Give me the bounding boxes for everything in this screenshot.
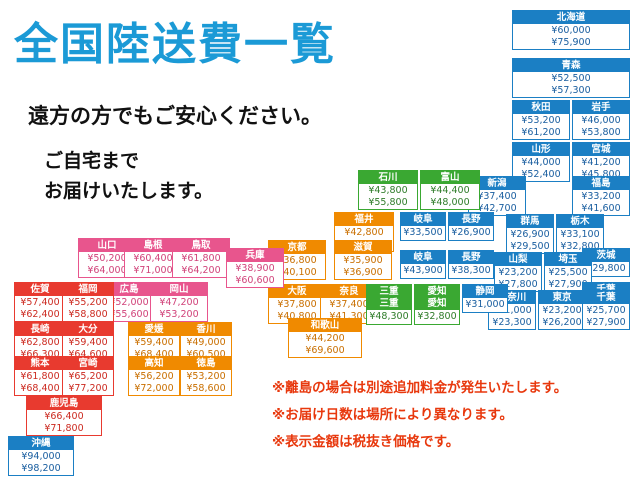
prefecture-card: 青森¥52,500¥57,300 (512, 58, 630, 98)
price-value: ¥55,800 (359, 197, 417, 209)
prefecture-name: 岐阜 (401, 251, 445, 264)
note-3: ※表示金額は税抜き価格です。 (272, 430, 459, 450)
price-value: ¥43,900 (401, 265, 445, 277)
prefecture-name: 青森 (513, 59, 629, 72)
prefecture-name: 三重 (367, 297, 411, 310)
prefecture-name: 鹿児島 (27, 397, 101, 410)
prefecture-name: 福岡 (63, 283, 113, 296)
price-value: ¥33,100 (557, 229, 603, 241)
price-value: ¥75,900 (513, 37, 629, 49)
price-value: ¥57,400 (15, 297, 65, 309)
price-value: ¥37,800 (269, 299, 325, 311)
prefecture-card: 東京¥23,200¥26,200 (538, 290, 586, 330)
price-value: ¥23,200 (539, 305, 585, 317)
prefecture-card: 愛知¥32,800 (414, 296, 460, 325)
prefecture-prices: ¥33,500 (401, 226, 445, 240)
price-value: ¥53,200 (181, 371, 231, 383)
price-value: ¥94,000 (9, 451, 73, 463)
prefecture-name: 長野 (449, 251, 493, 264)
prefecture-prices: ¥43,800¥55,800 (359, 184, 417, 209)
prefecture-name: 長崎 (15, 323, 65, 336)
prefecture-name: 大分 (63, 323, 113, 336)
prefecture-name: 長野 (449, 213, 493, 226)
prefecture-card: 北海道¥60,000¥75,900 (512, 10, 630, 50)
price-value: ¥61,800 (15, 371, 65, 383)
price-value: ¥53,200 (151, 309, 207, 321)
price-value: ¥31,000 (463, 299, 507, 311)
price-value: ¥26,900 (507, 229, 553, 241)
price-value: ¥27,900 (583, 317, 629, 329)
note-1: ※離島の場合は別途追加料金が発生いたします。 (272, 376, 567, 396)
price-value: ¥47,200 (151, 297, 207, 309)
price-value: ¥61,800 (173, 253, 229, 265)
prefecture-prices: ¥43,900 (401, 264, 445, 278)
price-value: ¥60,000 (513, 25, 629, 37)
prefecture-card: 福岡¥55,200¥58,800 (62, 282, 114, 322)
price-value: ¥55,200 (63, 297, 113, 309)
prefecture-prices: ¥35,900¥36,900 (335, 254, 391, 279)
prefecture-name: 山梨 (495, 253, 541, 266)
prefecture-name: 山形 (513, 143, 569, 156)
price-value: ¥38,300 (449, 265, 493, 277)
price-value: ¥25,700 (583, 305, 629, 317)
prefecture-prices: ¥26,900 (449, 226, 493, 240)
prefecture-prices: ¥33,200¥41,600 (573, 190, 629, 215)
price-value: ¥53,200 (513, 115, 569, 127)
prefecture-prices: ¥38,900¥60,600 (227, 262, 283, 287)
price-value: ¥32,800 (415, 311, 459, 323)
prefecture-card: 佐賀¥57,400¥62,400 (14, 282, 66, 322)
prefecture-card: 滋賀¥35,900¥36,900 (334, 240, 392, 280)
prefecture-card: 長野¥26,900 (448, 212, 494, 241)
price-value: ¥48,300 (367, 311, 411, 323)
price-chart-poster: 全国陸送費一覧 遠方の方でもご安心ください。 ご自宅まで お届けいたします。 ※… (0, 0, 640, 480)
prefecture-card: 鹿児島¥66,400¥71,800 (26, 396, 102, 436)
prefecture-name: 宮崎 (63, 357, 113, 370)
prefecture-prices: ¥65,200¥77,200 (63, 370, 113, 395)
price-value: ¥33,200 (573, 191, 629, 203)
prefecture-name: 栃木 (557, 215, 603, 228)
price-value: ¥35,900 (335, 255, 391, 267)
prefecture-prices: ¥44,400¥48,000 (421, 184, 479, 209)
price-value: ¥44,200 (289, 333, 361, 345)
prefecture-prices: ¥44,200¥69,600 (289, 332, 361, 357)
prefecture-prices: ¥48,300 (367, 310, 411, 324)
price-value: ¥60,600 (227, 275, 283, 287)
prefecture-prices: ¥94,000¥98,200 (9, 450, 73, 475)
prefecture-card: 秋田¥53,200¥61,200 (512, 100, 570, 140)
price-value: ¥56,200 (129, 371, 179, 383)
prefecture-card: 石川¥43,800¥55,800 (358, 170, 418, 210)
prefecture-name: 北海道 (513, 11, 629, 24)
price-value: ¥58,600 (181, 383, 231, 395)
price-value: ¥29,500 (507, 241, 553, 253)
prefecture-prices: ¥46,000¥53,800 (573, 114, 629, 139)
prefecture-name: 福島 (573, 177, 629, 190)
prefecture-prices: ¥56,200¥72,000 (129, 370, 179, 395)
price-value: ¥64,200 (173, 265, 229, 277)
price-value: ¥36,900 (335, 267, 391, 279)
prefecture-name: 佐賀 (15, 283, 65, 296)
prefecture-prices: ¥55,200¥58,800 (63, 296, 113, 321)
price-value: ¥98,200 (9, 463, 73, 475)
price-value: ¥62,800 (15, 337, 65, 349)
prefecture-name: 鳥取 (173, 239, 229, 252)
prefecture-prices: ¥52,500¥57,300 (513, 72, 629, 97)
price-value: ¥46,000 (573, 115, 629, 127)
price-value: ¥33,500 (401, 227, 445, 239)
price-value: ¥44,000 (513, 157, 569, 169)
price-value: ¥41,200 (573, 157, 629, 169)
prefecture-name: 香川 (181, 323, 231, 336)
price-value: ¥42,800 (335, 227, 393, 239)
prefecture-card: 高知¥56,200¥72,000 (128, 356, 180, 396)
prefecture-prices: ¥32,800 (415, 310, 459, 324)
price-value: ¥58,800 (63, 309, 113, 321)
price-value: ¥59,400 (63, 337, 113, 349)
prefecture-card: 熊本¥61,800¥68,400 (14, 356, 66, 396)
prefecture-name: 秋田 (513, 101, 569, 114)
prefecture-name: 和歌山 (289, 319, 361, 332)
prefecture-card: 岐阜¥33,500 (400, 212, 446, 241)
prefecture-prices: ¥60,000¥75,900 (513, 24, 629, 49)
price-value: ¥69,600 (289, 345, 361, 357)
prefecture-name: 宮城 (573, 143, 629, 156)
price-value: ¥26,900 (449, 227, 493, 239)
prefecture-name: 千葉 (583, 291, 629, 304)
prefecture-name: 徳島 (181, 357, 231, 370)
price-value: ¥72,000 (129, 383, 179, 395)
prefecture-prices: ¥31,000 (463, 298, 507, 312)
prefecture-name: 岡山 (151, 283, 207, 296)
prefecture-prices: ¥61,800¥68,400 (15, 370, 65, 395)
prefecture-card: 岡山¥47,200¥53,200 (150, 282, 208, 322)
prefecture-card: 千葉¥25,700¥27,900 (582, 290, 630, 330)
prefecture-card: 鳥取¥61,800¥64,200 (172, 238, 230, 278)
prefecture-card: 三重¥48,300 (366, 296, 412, 325)
prefecture-name: 群馬 (507, 215, 553, 228)
prefecture-card: 兵庫¥38,900¥60,600 (226, 248, 284, 288)
prefecture-prices: ¥25,700¥27,900 (583, 304, 629, 329)
price-value: ¥48,000 (421, 197, 479, 209)
price-value: ¥23,200 (495, 267, 541, 279)
price-value: ¥59,400 (129, 337, 179, 349)
prefecture-card: 静岡¥31,000 (462, 284, 508, 313)
prefecture-card: 長野¥38,300 (448, 250, 494, 279)
prefecture-prices: ¥53,200¥61,200 (513, 114, 569, 139)
subtitle-line-2: ご自宅まで (44, 146, 139, 173)
price-value: ¥38,900 (227, 263, 283, 275)
prefecture-name: 静岡 (463, 285, 507, 298)
prefecture-card: 群馬¥26,900¥29,500 (506, 214, 554, 254)
prefecture-name: 兵庫 (227, 249, 283, 262)
prefecture-name: 熊本 (15, 357, 65, 370)
prefecture-name: 沖縄 (9, 437, 73, 450)
page-title: 全国陸送費一覧 (14, 8, 336, 72)
prefecture-name: 高知 (129, 357, 179, 370)
price-value: ¥77,200 (63, 383, 113, 395)
prefecture-prices: ¥66,400¥71,800 (27, 410, 101, 435)
price-value: ¥71,800 (27, 423, 101, 435)
prefecture-prices: ¥53,200¥58,600 (181, 370, 231, 395)
prefecture-name: 滋賀 (335, 241, 391, 254)
price-value: ¥65,200 (63, 371, 113, 383)
prefecture-prices: ¥38,300 (449, 264, 493, 278)
prefecture-prices: ¥57,400¥62,400 (15, 296, 65, 321)
prefecture-card: 徳島¥53,200¥58,600 (180, 356, 232, 396)
prefecture-card: 和歌山¥44,200¥69,600 (288, 318, 362, 358)
prefecture-card: 沖縄¥94,000¥98,200 (8, 436, 74, 476)
prefecture-name: 岐阜 (401, 213, 445, 226)
prefecture-prices: ¥47,200¥53,200 (151, 296, 207, 321)
subtitle-line-3: お届けいたします。 (44, 176, 213, 203)
price-value: ¥52,500 (513, 73, 629, 85)
prefecture-name: 埼玉 (545, 253, 591, 266)
price-value: ¥61,200 (513, 127, 569, 139)
prefecture-name: 東京 (539, 291, 585, 304)
price-value: ¥44,400 (421, 185, 479, 197)
price-value: ¥66,400 (27, 411, 101, 423)
price-value: ¥26,200 (539, 317, 585, 329)
prefecture-name: 富山 (421, 171, 479, 184)
price-value: ¥41,600 (573, 203, 629, 215)
note-2: ※お届け日数は場所により異なります。 (272, 403, 513, 423)
prefecture-card: 宮崎¥65,200¥77,200 (62, 356, 114, 396)
price-value: ¥53,800 (573, 127, 629, 139)
prefecture-name: 福井 (335, 213, 393, 226)
price-value: ¥57,300 (513, 85, 629, 97)
price-value: ¥25,500 (545, 267, 591, 279)
prefecture-card: 福島¥33,200¥41,600 (572, 176, 630, 216)
prefecture-card: 岩手¥46,000¥53,800 (572, 100, 630, 140)
price-value: ¥43,800 (359, 185, 417, 197)
prefecture-card: 岐阜¥43,900 (400, 250, 446, 279)
prefecture-name: 岩手 (573, 101, 629, 114)
price-value: ¥68,400 (15, 383, 65, 395)
prefecture-card: 富山¥44,400¥48,000 (420, 170, 480, 210)
prefecture-name: 愛知 (415, 297, 459, 310)
subtitle-line-1: 遠方の方でもご安心ください。 (28, 100, 322, 130)
price-value: ¥49,000 (181, 337, 231, 349)
price-value: ¥62,400 (15, 309, 65, 321)
prefecture-name: 石川 (359, 171, 417, 184)
prefecture-prices: ¥23,200¥26,200 (539, 304, 585, 329)
price-value: ¥23,300 (489, 317, 535, 329)
prefecture-name: 愛媛 (129, 323, 179, 336)
prefecture-prices: ¥61,800¥64,200 (173, 252, 229, 277)
prefecture-prices: ¥26,900¥29,500 (507, 228, 553, 253)
